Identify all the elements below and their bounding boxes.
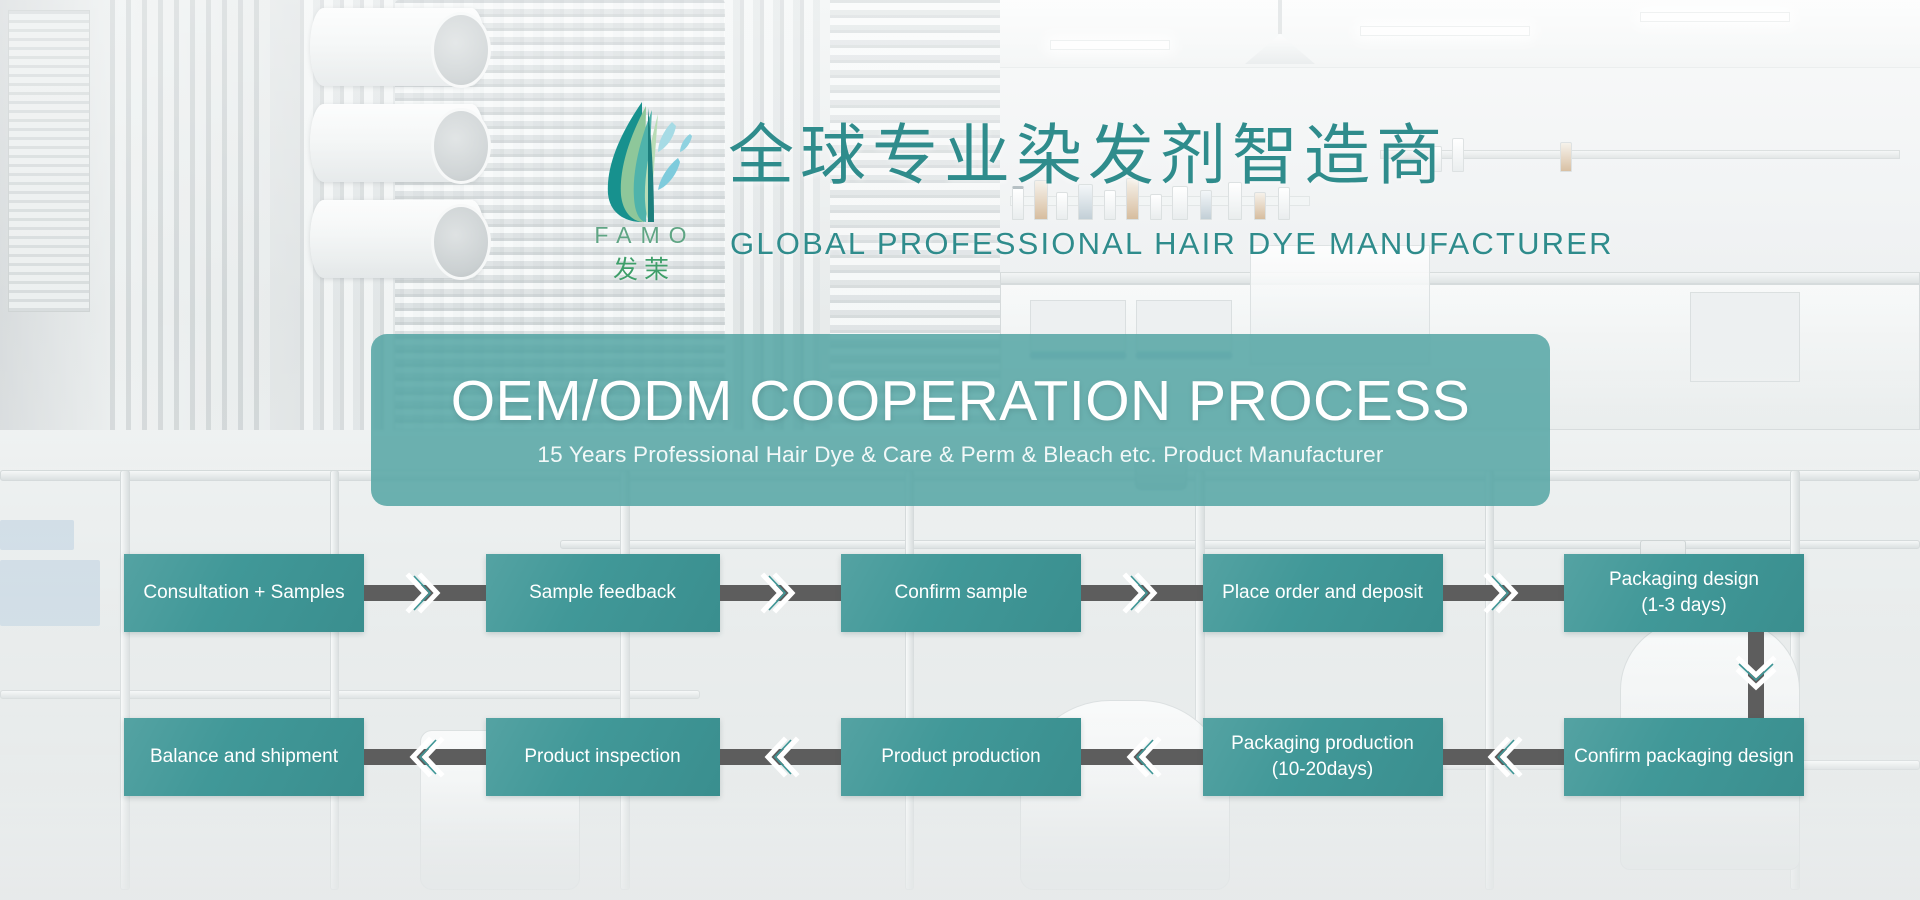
hanging-lamp xyxy=(1245,20,1315,60)
process-row-top: Consultation + Samples Sample feedback xyxy=(124,554,1804,632)
process-step[interactable]: Packaging production (10-20days) xyxy=(1203,718,1443,796)
background-left-machinery xyxy=(0,0,300,440)
process-flow: Consultation + Samples Sample feedback xyxy=(0,540,1920,820)
background-cylinder-2 xyxy=(310,104,485,182)
process-step-label: Consultation + Samples xyxy=(133,580,354,606)
flow-connector xyxy=(1443,585,1565,601)
process-step-label: Packaging production (10-20days) xyxy=(1221,731,1424,782)
flow-connector xyxy=(1081,585,1203,601)
headline-chinese: 全球专业染发剂智造商 xyxy=(728,122,1448,188)
process-step-label: Balance and shipment xyxy=(140,744,348,770)
banner: OEM/ODM COOPERATION PROCESS 15 Years Pro… xyxy=(371,334,1550,506)
chevron-left-icon xyxy=(403,734,447,780)
process-step[interactable]: Packaging design (1-3 days) xyxy=(1564,554,1804,632)
process-step-label: Confirm sample xyxy=(884,580,1037,606)
flow-connector xyxy=(1081,749,1203,765)
chevron-left-icon xyxy=(1481,734,1525,780)
flow-connector xyxy=(364,585,486,601)
banner-title: OEM/ODM COOPERATION PROCESS xyxy=(451,372,1471,432)
brand-name-latin: FAMO xyxy=(566,222,716,249)
flow-connector-vertical xyxy=(1748,632,1764,718)
headline-english: GLOBAL PROFESSIONAL HAIR DYE MANUFACTURE… xyxy=(730,228,1614,259)
chevron-down-icon xyxy=(1733,653,1779,697)
process-step[interactable]: Product production xyxy=(841,718,1081,796)
lab-bottle xyxy=(1104,190,1116,220)
brand-name-cn: 发茉 xyxy=(566,250,716,286)
process-step-label: Product production xyxy=(871,744,1051,770)
chevron-right-icon xyxy=(1481,570,1525,616)
background-cylinder-1 xyxy=(310,8,485,86)
process-row-bottom: Balance and shipment Product inspection xyxy=(124,718,1804,796)
lab-bottle xyxy=(1200,190,1212,220)
page-root: FAMO 发茉 全球专业染发剂智造商 GLOBAL PROFESSIONAL H… xyxy=(0,0,1920,900)
lab-bench-top xyxy=(1000,272,1920,284)
process-step[interactable]: Balance and shipment xyxy=(124,718,364,796)
process-step-label: Packaging design (1-3 days) xyxy=(1599,567,1769,618)
flow-connector xyxy=(720,749,842,765)
lab-bottle xyxy=(1452,138,1464,172)
process-step[interactable]: Sample feedback xyxy=(486,554,720,632)
process-step-label: Place order and deposit xyxy=(1212,580,1433,606)
flow-connector xyxy=(1443,749,1565,765)
background-cylinder-3 xyxy=(310,200,485,278)
process-step[interactable]: Consultation + Samples xyxy=(124,554,364,632)
lab-cabinet xyxy=(1690,292,1800,382)
process-step-label: Confirm packaging design xyxy=(1564,744,1804,770)
process-step[interactable]: Place order and deposit xyxy=(1203,554,1443,632)
chevron-left-icon xyxy=(758,734,802,780)
process-step-label: Sample feedback xyxy=(519,580,686,606)
brand-logo: FAMO 发茉 xyxy=(566,96,716,286)
lab-bottle xyxy=(1056,192,1068,220)
chevron-right-icon xyxy=(1120,570,1164,616)
leaf-logo-icon xyxy=(586,96,696,226)
flow-connector xyxy=(364,749,486,765)
lab-bottle xyxy=(1560,142,1572,172)
ceiling-light-2 xyxy=(1640,12,1790,22)
process-step[interactable]: Confirm packaging design xyxy=(1564,718,1804,796)
process-step[interactable]: Product inspection xyxy=(486,718,720,796)
process-step[interactable]: Confirm sample xyxy=(841,554,1081,632)
chevron-left-icon xyxy=(1120,734,1164,780)
lab-bottle xyxy=(1254,192,1266,220)
chevron-right-icon xyxy=(758,570,802,616)
ceiling-light-3 xyxy=(1050,40,1170,50)
lab-bottle xyxy=(1150,194,1162,220)
chevron-right-icon xyxy=(403,570,447,616)
process-step-label: Product inspection xyxy=(514,744,690,770)
ceiling-light-1 xyxy=(1360,26,1530,36)
banner-subtitle: 15 Years Professional Hair Dye & Care & … xyxy=(537,442,1383,468)
flow-connector xyxy=(720,585,842,601)
